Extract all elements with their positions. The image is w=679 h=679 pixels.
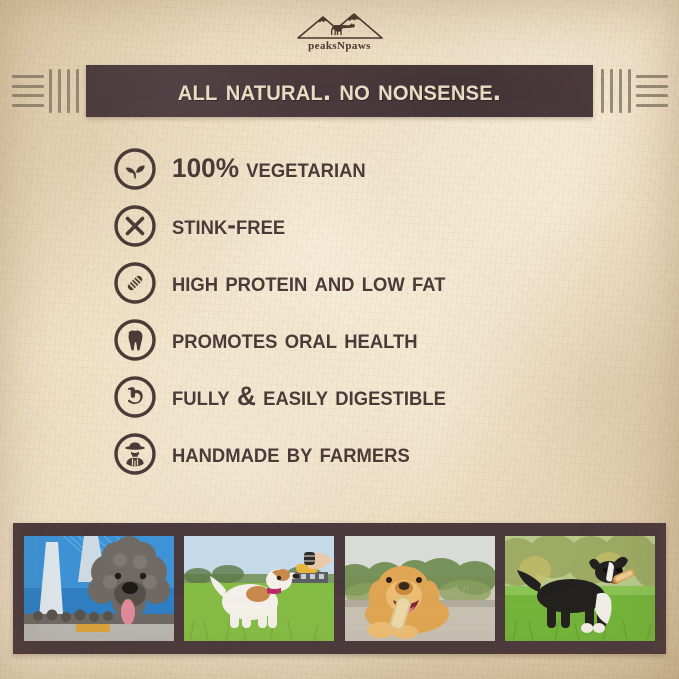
feature-label: 100% Vegetarian <box>172 155 366 182</box>
feature-list: 100% Vegetarian Stink-Free <box>112 140 639 482</box>
mountain-dog-logo-icon <box>292 11 388 41</box>
farmer-icon <box>112 431 158 477</box>
tooth-icon <box>112 317 158 363</box>
feature-label: High Protein and Low Fat <box>172 269 445 296</box>
brand-wordmark: peaksNpaws <box>308 40 371 52</box>
page-title: All Natural. No Nonsense. <box>178 76 501 106</box>
stomach-icon <box>112 374 158 420</box>
feature-item: High Protein and Low Fat <box>112 254 639 311</box>
x-circle-icon <box>112 203 158 249</box>
feature-label: Handmade by Farmers <box>172 440 410 467</box>
feature-item: 100% Vegetarian <box>112 140 639 197</box>
feature-label: Stink-Free <box>172 212 285 239</box>
feature-item: Stink-Free <box>112 197 639 254</box>
photo-strip <box>13 523 666 654</box>
dog-silhouette-icon <box>331 23 355 35</box>
feature-item: Handmade by Farmers <box>112 425 639 482</box>
brand-logo: peaksNpaws <box>0 11 679 52</box>
aztec-bars-ornament-icon <box>593 64 679 118</box>
photo-black-dog-with-chew <box>505 536 655 641</box>
leaf-sprout-icon <box>112 146 158 192</box>
aztec-bars-ornament-icon <box>0 64 86 118</box>
photo-golden-retriever-chewing <box>345 536 495 641</box>
photo-grey-poodle-on-bridge <box>24 536 174 641</box>
feature-item: Promotes Oral Health <box>112 311 639 368</box>
feature-label: Promotes Oral Health <box>172 326 418 353</box>
headline-banner: All Natural. No Nonsense. <box>86 65 593 117</box>
header-band: All Natural. No Nonsense. <box>0 64 679 118</box>
photo-jack-russell-taking-treat <box>184 536 334 641</box>
product-feature-poster: peaksNpaws All Natural. No Nonsense. <box>0 0 679 679</box>
dna-helix-icon <box>112 260 158 306</box>
feature-label: Fully & Easily Digestible <box>172 383 446 410</box>
feature-item: Fully & Easily Digestible <box>112 368 639 425</box>
